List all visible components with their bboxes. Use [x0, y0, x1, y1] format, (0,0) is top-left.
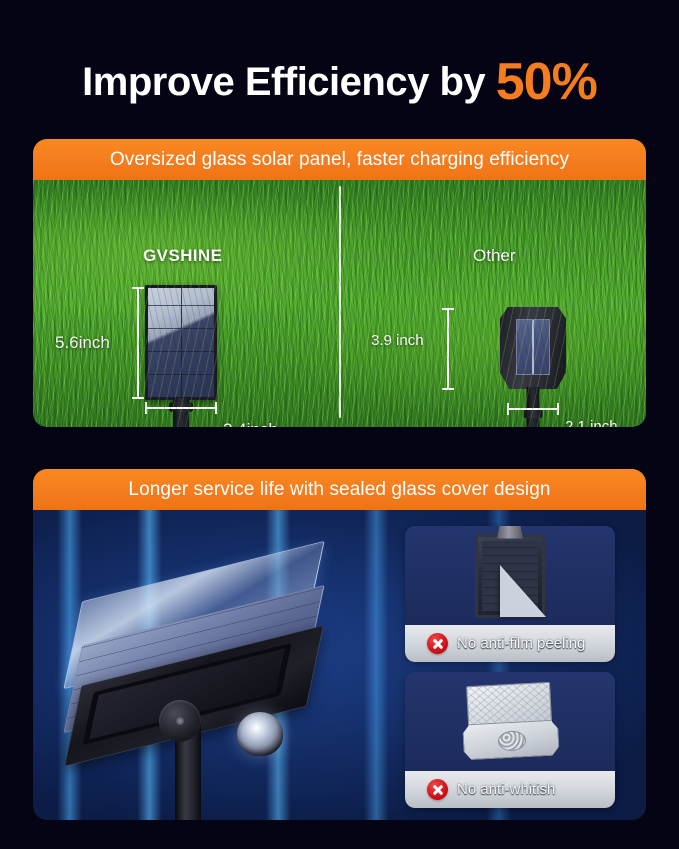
grass-background-image: GVSHINE Other 5.6inch 3.4inch 3.9 inch	[33, 180, 646, 427]
peeling-film-panel-image	[475, 534, 545, 618]
other-height-label: 3.9 inch	[371, 332, 424, 349]
section1-banner-label: Oversized glass solar panel, faster char…	[110, 149, 569, 171]
card-photo-whitish	[405, 672, 615, 771]
gvshine-width-bracket	[145, 407, 217, 409]
other-width-label: 2.1 inch	[565, 418, 618, 427]
red-x-icon	[427, 633, 448, 654]
page-title-highlight: 50%	[496, 53, 597, 111]
other-solar-panel	[516, 319, 550, 375]
blue-background: No anti-film peeling No anti-whitish	[33, 510, 646, 820]
panel-grid-lines	[148, 288, 214, 397]
section1-banner: Oversized glass solar panel, faster char…	[33, 139, 646, 180]
other-solar-light-image	[500, 307, 566, 389]
gvshine-width-label: 3.4inch	[223, 420, 278, 427]
page-title: Improve Efficiency by 50%	[0, 52, 679, 112]
brand-label-gvshine: GVSHINE	[143, 246, 222, 266]
other-height-bracket	[447, 308, 449, 390]
card-caption-whitish: No anti-whitish	[405, 771, 615, 808]
card-photo-film-peeling	[405, 526, 615, 625]
gvshine-height-bracket	[137, 287, 139, 399]
gvshine-height-label: 5.6inch	[55, 333, 110, 353]
gvshine-ground-stake	[173, 398, 189, 427]
comparison-divider	[339, 186, 341, 418]
card-caption-film-peeling: No anti-film peeling	[405, 625, 615, 662]
comparison-card-whitish: No anti-whitish	[405, 672, 615, 808]
card-caption-text: No anti-film peeling	[457, 635, 585, 652]
solar-panel-comparison-section: Oversized glass solar panel, faster char…	[33, 139, 646, 427]
other-ground-stake	[527, 387, 540, 427]
comparison-card-film-peeling: No anti-film peeling	[405, 526, 615, 662]
exploded-solar-lamp-diagram	[51, 532, 381, 812]
card-caption-text: No anti-whitish	[457, 781, 555, 798]
other-width-bracket	[507, 408, 559, 410]
page-title-text: Improve Efficiency by	[82, 60, 496, 104]
brand-label-other: Other	[473, 246, 516, 266]
adjustment-hinge	[159, 700, 201, 742]
whitish-panel-image	[460, 681, 560, 762]
gvshine-panel-cells	[148, 288, 214, 397]
section2-banner: Longer service life with sealed glass co…	[33, 469, 646, 510]
other-lamp-housing	[500, 307, 566, 389]
lamp-neck	[497, 526, 523, 539]
sealed-glass-section: Longer service life with sealed glass co…	[33, 469, 646, 820]
section2-banner-label: Longer service life with sealed glass co…	[128, 479, 550, 501]
gvshine-solar-light-image	[145, 285, 217, 400]
led-lamp-head	[237, 712, 283, 756]
lamp-base	[462, 719, 560, 760]
red-x-icon	[427, 779, 448, 800]
gvshine-solar-panel	[145, 285, 217, 400]
